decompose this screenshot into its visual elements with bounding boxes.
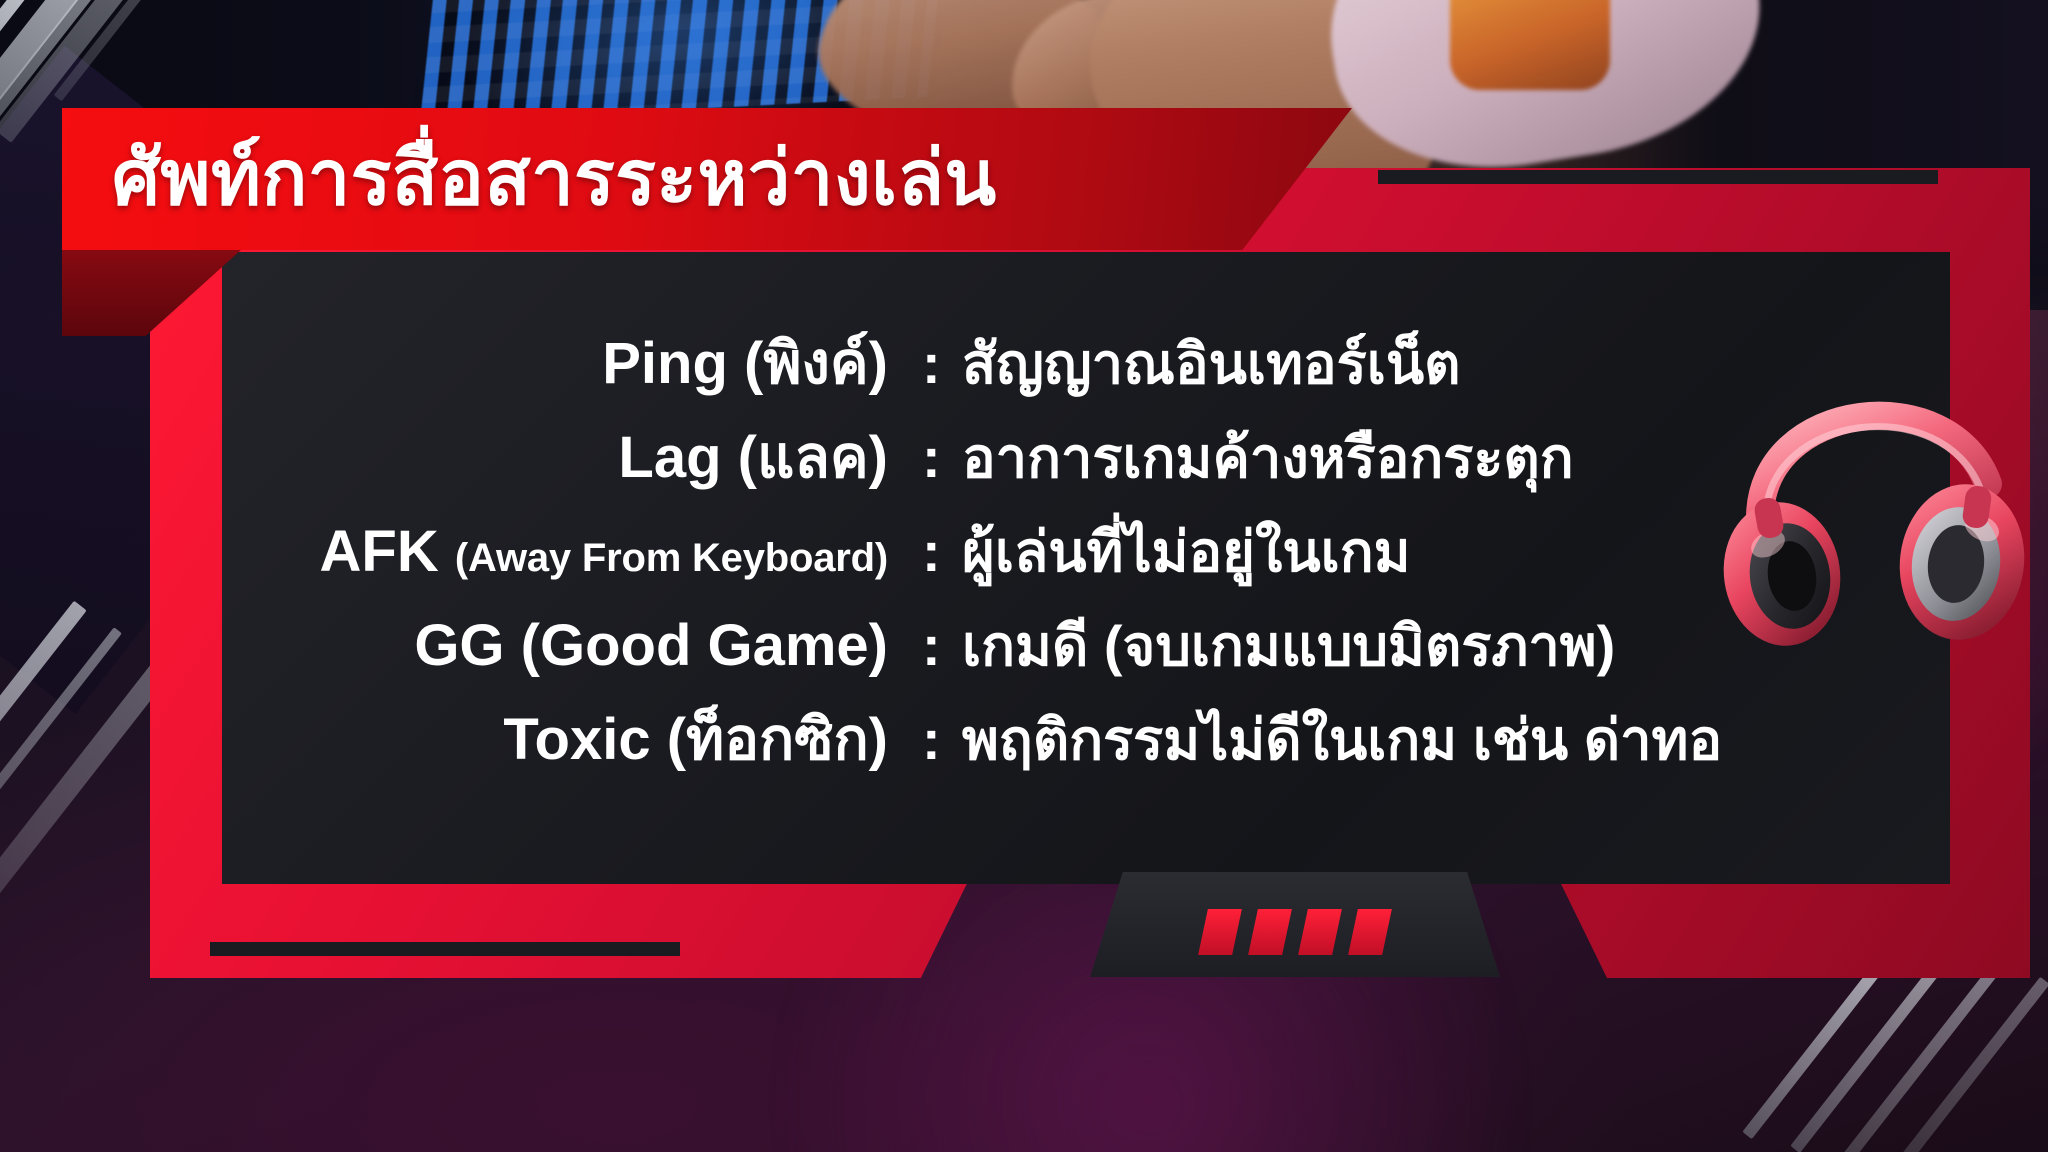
glossary-separator: : — [922, 618, 962, 674]
accent-bar-bottom — [210, 942, 680, 956]
glossary-term-text: AFK — [320, 519, 439, 584]
glossary-meaning: พฤติกรรมไม่ดีในเกม เช่น ด่าทอ — [962, 712, 1926, 768]
glossary-term: AFK (Away From Keyboard) — [222, 523, 922, 581]
glossary-term-text: Toxic (ท็อกซิก) — [503, 707, 888, 772]
glossary-term: Toxic (ท็อกซิก) — [222, 711, 922, 769]
glossary-term: GG (Good Game) — [222, 617, 922, 675]
tab-bar-2 — [1248, 909, 1292, 955]
glossary-separator: : — [922, 524, 962, 580]
glossary-separator: : — [922, 712, 962, 768]
glossary-table: Ping (พิงค์) : สัญญาณอินเทอร์เน็ต Lag (แ… — [222, 290, 1950, 850]
list-item: AFK (Away From Keyboard) : ผู้เล่นที่ไม่… — [222, 523, 1926, 617]
tab-bar-1 — [1198, 909, 1242, 955]
list-item: Ping (พิงค์) : สัญญาณอินเทอร์เน็ต — [222, 335, 1926, 429]
glossary-term-text: Lag (แลค) — [618, 425, 888, 490]
glossary-term-text: GG (Good Game) — [414, 613, 888, 678]
list-item: GG (Good Game) : เกมดี (จบเกมแบบมิตรภาพ) — [222, 617, 1926, 711]
bottom-tab-decoration — [1090, 872, 1500, 977]
glossary-term: Ping (พิงค์) — [222, 335, 922, 393]
glossary-separator: : — [922, 430, 962, 486]
glossary-separator: : — [922, 336, 962, 392]
tab-bar-4 — [1348, 909, 1392, 955]
mug-graphic — [1450, 0, 1610, 90]
list-item: Toxic (ท็อกซิก) : พฤติกรรมไม่ดีในเกม เช่… — [222, 711, 1926, 805]
list-item: Lag (แลค) : อาการเกมค้างหรือกระตุก — [222, 429, 1926, 523]
glossary-term: Lag (แลค) — [222, 429, 922, 487]
title-banner: ศัพท์การสื่อสารระหว่างเล่น — [62, 108, 1352, 250]
glossary-term-text: Ping (พิงค์) — [602, 331, 888, 396]
slide-root: ศัพท์การสื่อสารระหว่างเล่น Ping (พิงค์) … — [0, 0, 2048, 1152]
tab-bar-3 — [1298, 909, 1342, 955]
page-title: ศัพท์การสื่อสารระหว่างเล่น — [62, 141, 997, 217]
glossary-term-expansion: (Away From Keyboard) — [455, 536, 888, 580]
accent-bar-top — [1378, 170, 1938, 184]
headphones-icon — [1720, 348, 2030, 708]
